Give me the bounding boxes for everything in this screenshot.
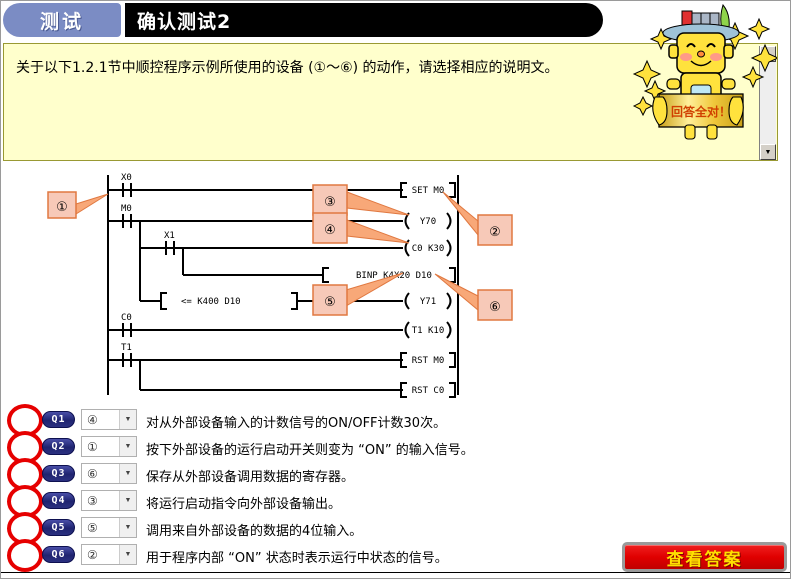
answer-select-6-value: ② [82,548,119,562]
footer-divider [1,572,790,573]
answer-select-5[interactable]: ⑤ ▼ [81,517,137,538]
answer-select-3[interactable]: ⑥ ▼ [81,463,137,484]
view-answer-button-label: 查看答案 [667,545,743,570]
answer-select-3-value: ⑥ [82,467,119,481]
callout-2-label: ② [489,225,501,240]
svg-text:X1: X1 [164,231,175,241]
chevron-down-icon[interactable]: ▼ [119,410,136,429]
svg-text:<= K400 D10: <= K400 D10 [181,297,241,307]
svg-text:Y71: Y71 [420,297,436,307]
chevron-down-icon[interactable]: ▼ [119,545,136,564]
answer-select-2[interactable]: ① ▼ [81,436,137,457]
svg-text:C0 K30: C0 K30 [412,244,445,254]
answer-select-4-value: ③ [82,494,119,508]
question-row-4: Q4 ③ ▼ 将运行启动指令向外部设备输出。 [1,487,761,515]
tab-test[interactable]: 测试 [3,3,121,37]
chevron-down-icon[interactable]: ▼ [119,437,136,456]
question-badge-6: Q6 [42,546,75,563]
instruction-panel: 关于以下1.2.1节中顺控程序示例所使用的设备 (①～⑥) 的动作，请选择相应的… [3,43,778,161]
svg-text:T1: T1 [121,343,132,353]
quiz-page: 测试 确认测试2 关于以下1.2.1节中顺控程序示例所使用的设备 (①～⑥) 的… [0,0,791,579]
chevron-down-icon[interactable]: ▼ [119,464,136,483]
answer-marker-circle-6 [7,539,43,572]
ladder-diagram: .ld { stroke:#000; stroke-width:2; fill:… [3,163,778,408]
page-title-bar: 确认测试2 [125,3,603,37]
callout-6-label: ⑥ [489,300,501,315]
answer-select-6[interactable]: ② ▼ [81,544,137,565]
chevron-down-icon[interactable]: ▼ [119,518,136,537]
question-badge-1: Q1 [42,411,75,428]
question-badge-4: Q4 [42,492,75,509]
question-row-2: Q2 ① ▼ 按下外部设备的运行启动开关则变为 “ON” 的输入信号。 [1,433,761,461]
question-badge-1-label: Q1 [51,414,65,425]
question-badge-6-label: Q6 [51,549,65,560]
question-badge-5-label: Q5 [51,522,65,533]
svg-text:T1 K10: T1 K10 [412,326,445,336]
answer-select-1-value: ④ [82,413,119,427]
svg-text:M0: M0 [121,204,132,214]
answer-select-5-value: ⑤ [82,521,119,535]
question-text-6: 用于程序内部 “ON” 状态时表示运行中状态的信号。 [146,547,448,566]
question-row-3: Q3 ⑥ ▼ 保存从外部设备调用数据的寄存器。 [1,460,761,488]
question-text-1: 对从外部设备输入的计数信号的ON/OFF计数30次。 [146,412,446,431]
svg-text:X0: X0 [121,173,132,183]
callout-3-label: ③ [324,195,336,210]
answer-select-4[interactable]: ③ ▼ [81,490,137,511]
view-answer-button[interactable]: 查看答案 [622,542,787,572]
question-badge-3-label: Q3 [51,468,65,479]
chevron-down-icon[interactable]: ▼ [119,491,136,510]
question-badge-3: Q3 [42,465,75,482]
question-text-4: 将运行启动指令向外部设备输出。 [146,493,341,512]
question-text-3: 保存从外部设备调用数据的寄存器。 [146,466,354,485]
question-badge-4-label: Q4 [51,495,65,506]
scroll-up-icon[interactable]: ▲ [760,46,776,62]
question-text-5: 调用来自外部设备的数据的4位输入。 [146,520,362,539]
svg-text:SET M0: SET M0 [412,186,445,196]
question-text-2: 按下外部设备的运行启动开关则变为 “ON” 的输入信号。 [146,439,474,458]
tab-test-label: 测试 [40,7,84,34]
page-title: 确认测试2 [137,7,231,34]
callout-1-label: ① [56,200,68,215]
scroll-down-icon[interactable]: ▼ [760,144,776,160]
svg-text:RST C0: RST C0 [412,386,445,396]
instruction-scrollbar[interactable]: ▲ ▼ [759,46,775,160]
question-badge-5: Q5 [42,519,75,536]
callout-4-label: ④ [324,223,336,238]
svg-text:Y70: Y70 [420,217,436,227]
callout-5-label: ⑤ [324,295,336,310]
question-badge-2-label: Q2 [51,441,65,452]
question-row-1: Q1 ④ ▼ 对从外部设备输入的计数信号的ON/OFF计数30次。 [1,406,761,434]
answer-select-2-value: ① [82,440,119,454]
answer-select-1[interactable]: ④ ▼ [81,409,137,430]
instruction-text: 关于以下1.2.1节中顺控程序示例所使用的设备 (①～⑥) 的动作，请选择相应的… [16,58,706,79]
question-row-5: Q5 ⑤ ▼ 调用来自外部设备的数据的4位输入。 [1,514,761,542]
svg-text:C0: C0 [121,313,132,323]
question-badge-2: Q2 [42,438,75,455]
svg-text:RST M0: RST M0 [412,356,445,366]
page-header: 测试 确认测试2 [1,1,790,39]
ladder-diagram-svg: .ld { stroke:#000; stroke-width:2; fill:… [3,163,778,408]
scrollbar-track[interactable] [760,62,776,144]
